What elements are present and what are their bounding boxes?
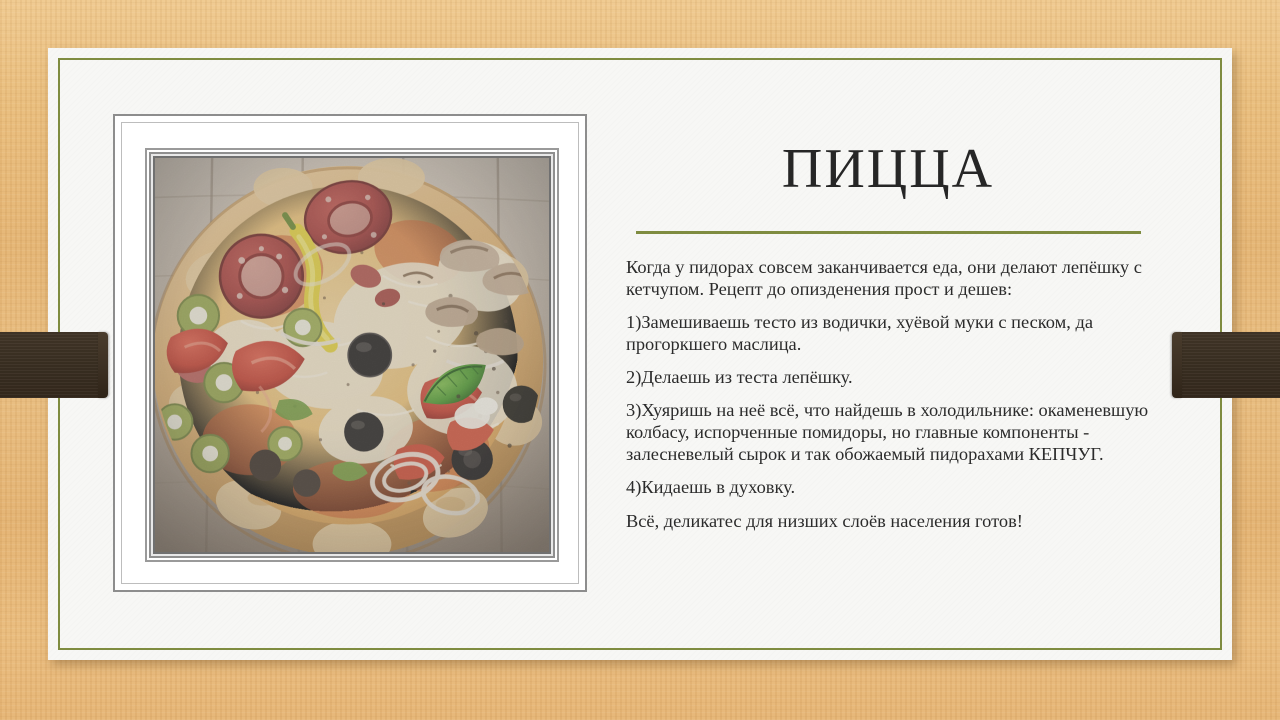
paragraph-intro: Когда у пидорах совсем заканчивается еда…: [626, 256, 1160, 300]
decorative-band-right: [1176, 332, 1280, 398]
paragraph-step-1: 1)Замешиваешь тесто из водички, хуёвой м…: [626, 311, 1160, 355]
body-text-block: Когда у пидорах совсем заканчивается еда…: [614, 234, 1162, 532]
wood-background: ПИЦЦА Когда у пидорах совсем заканчивает…: [0, 0, 1280, 720]
decorative-band-left: [0, 332, 104, 398]
pizza-photo: [155, 158, 549, 552]
content-column: ПИЦЦА Когда у пидорах совсем заканчивает…: [614, 114, 1162, 614]
paragraph-conclusion: Всё, деликатес для низших слоёв населени…: [626, 510, 1160, 532]
paragraph-step-3: 3)Хуяришь на неё всё, что найдешь в холо…: [626, 399, 1160, 465]
slide-card: ПИЦЦА Когда у пидорах совсем заканчивает…: [48, 48, 1232, 660]
paragraph-step-4: 4)Кидаешь в духовку.: [626, 476, 1160, 498]
paragraph-step-2: 2)Делаешь из теста лепёшку.: [626, 366, 1160, 388]
page-title: ПИЦЦА: [614, 114, 1162, 199]
pizza-photo-illustration: [155, 158, 549, 552]
photo-inner-frame: [145, 148, 559, 562]
decorative-band-right-cap: [1172, 332, 1182, 398]
decorative-band-left-cap: [98, 332, 108, 398]
photo-frame: [113, 114, 587, 592]
